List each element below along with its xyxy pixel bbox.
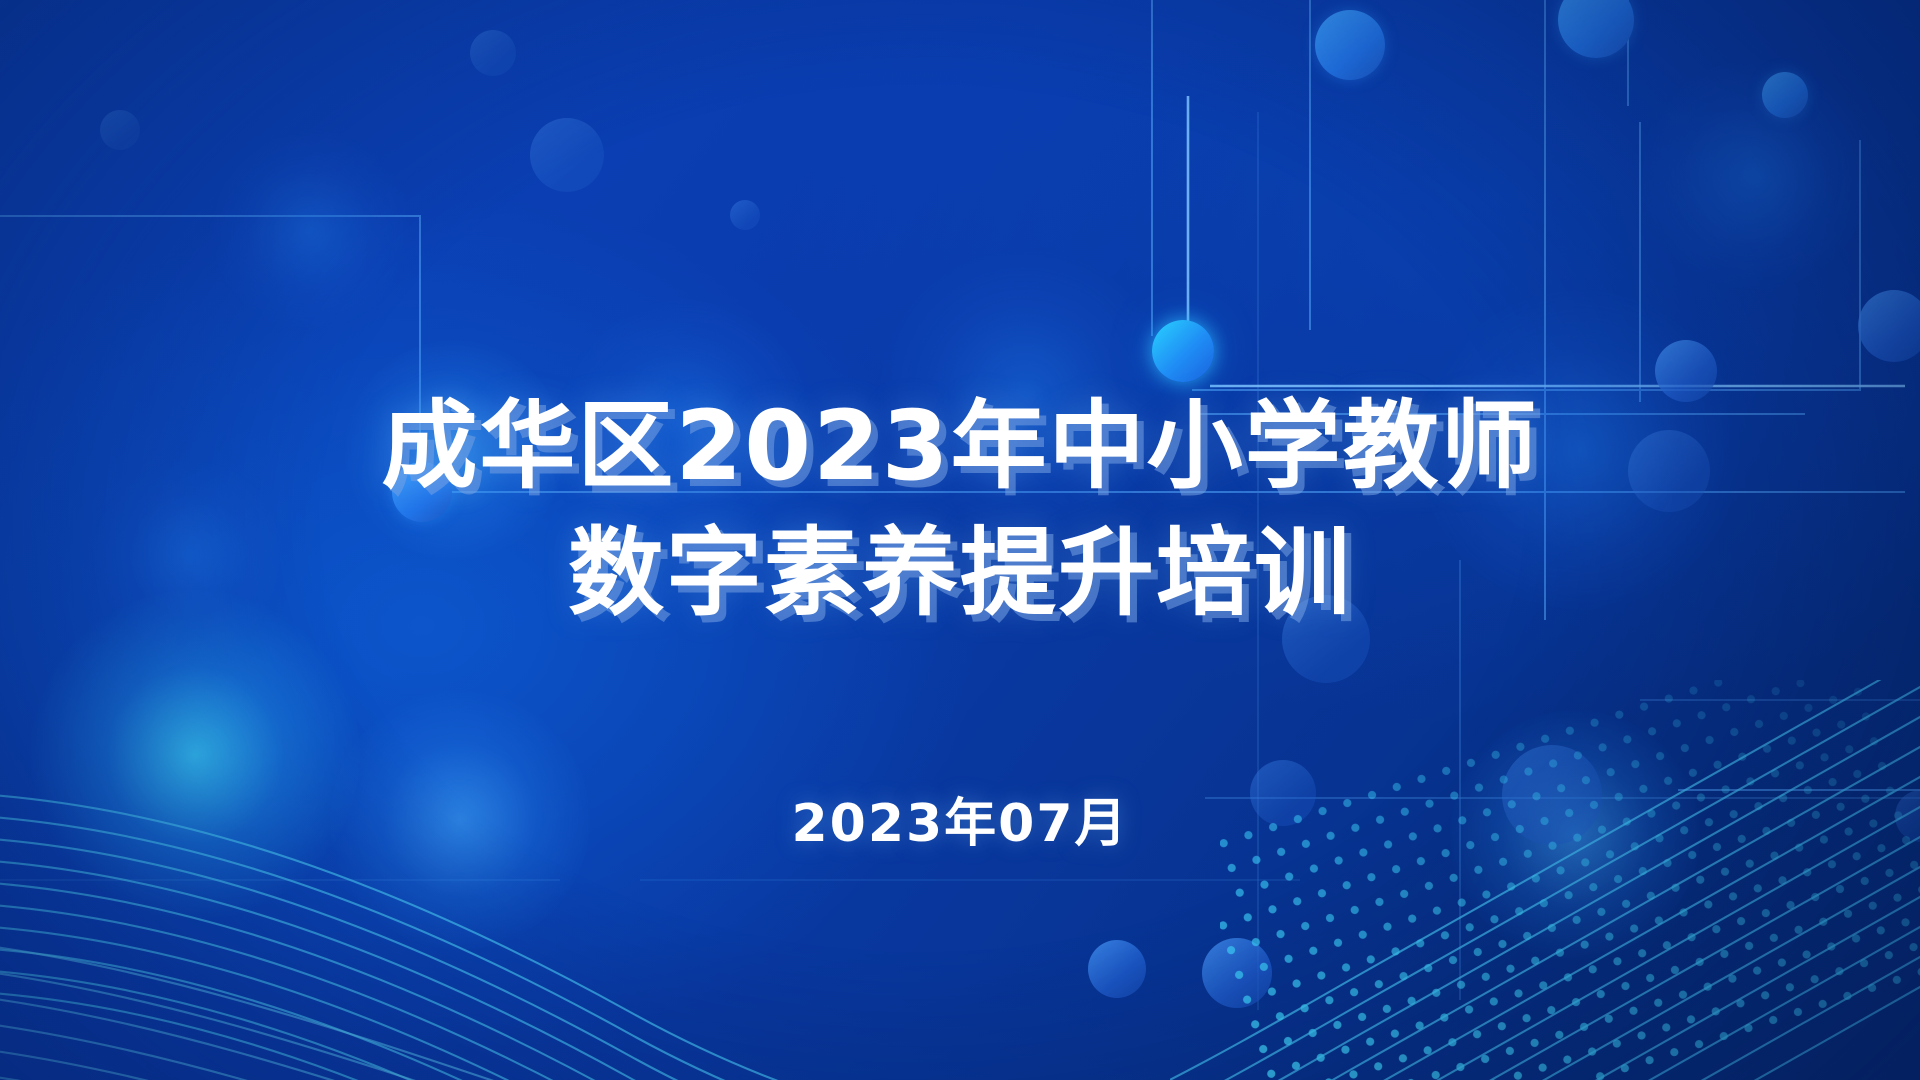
- title-line-1: 成华区2023年中小学教师: [381, 390, 1538, 503]
- slide-content: 成华区2023年中小学教师 数字素养提升培训 2023年07月: [0, 0, 1920, 1080]
- title-line-2: 数字素养提升培训: [381, 517, 1538, 630]
- title-slide: 成华区2023年中小学教师 数字素养提升培训 2023年07月: [0, 0, 1920, 1080]
- subtitle-date: 2023年07月: [791, 781, 1128, 856]
- page-title: 成华区2023年中小学教师 数字素养提升培训: [381, 390, 1538, 631]
